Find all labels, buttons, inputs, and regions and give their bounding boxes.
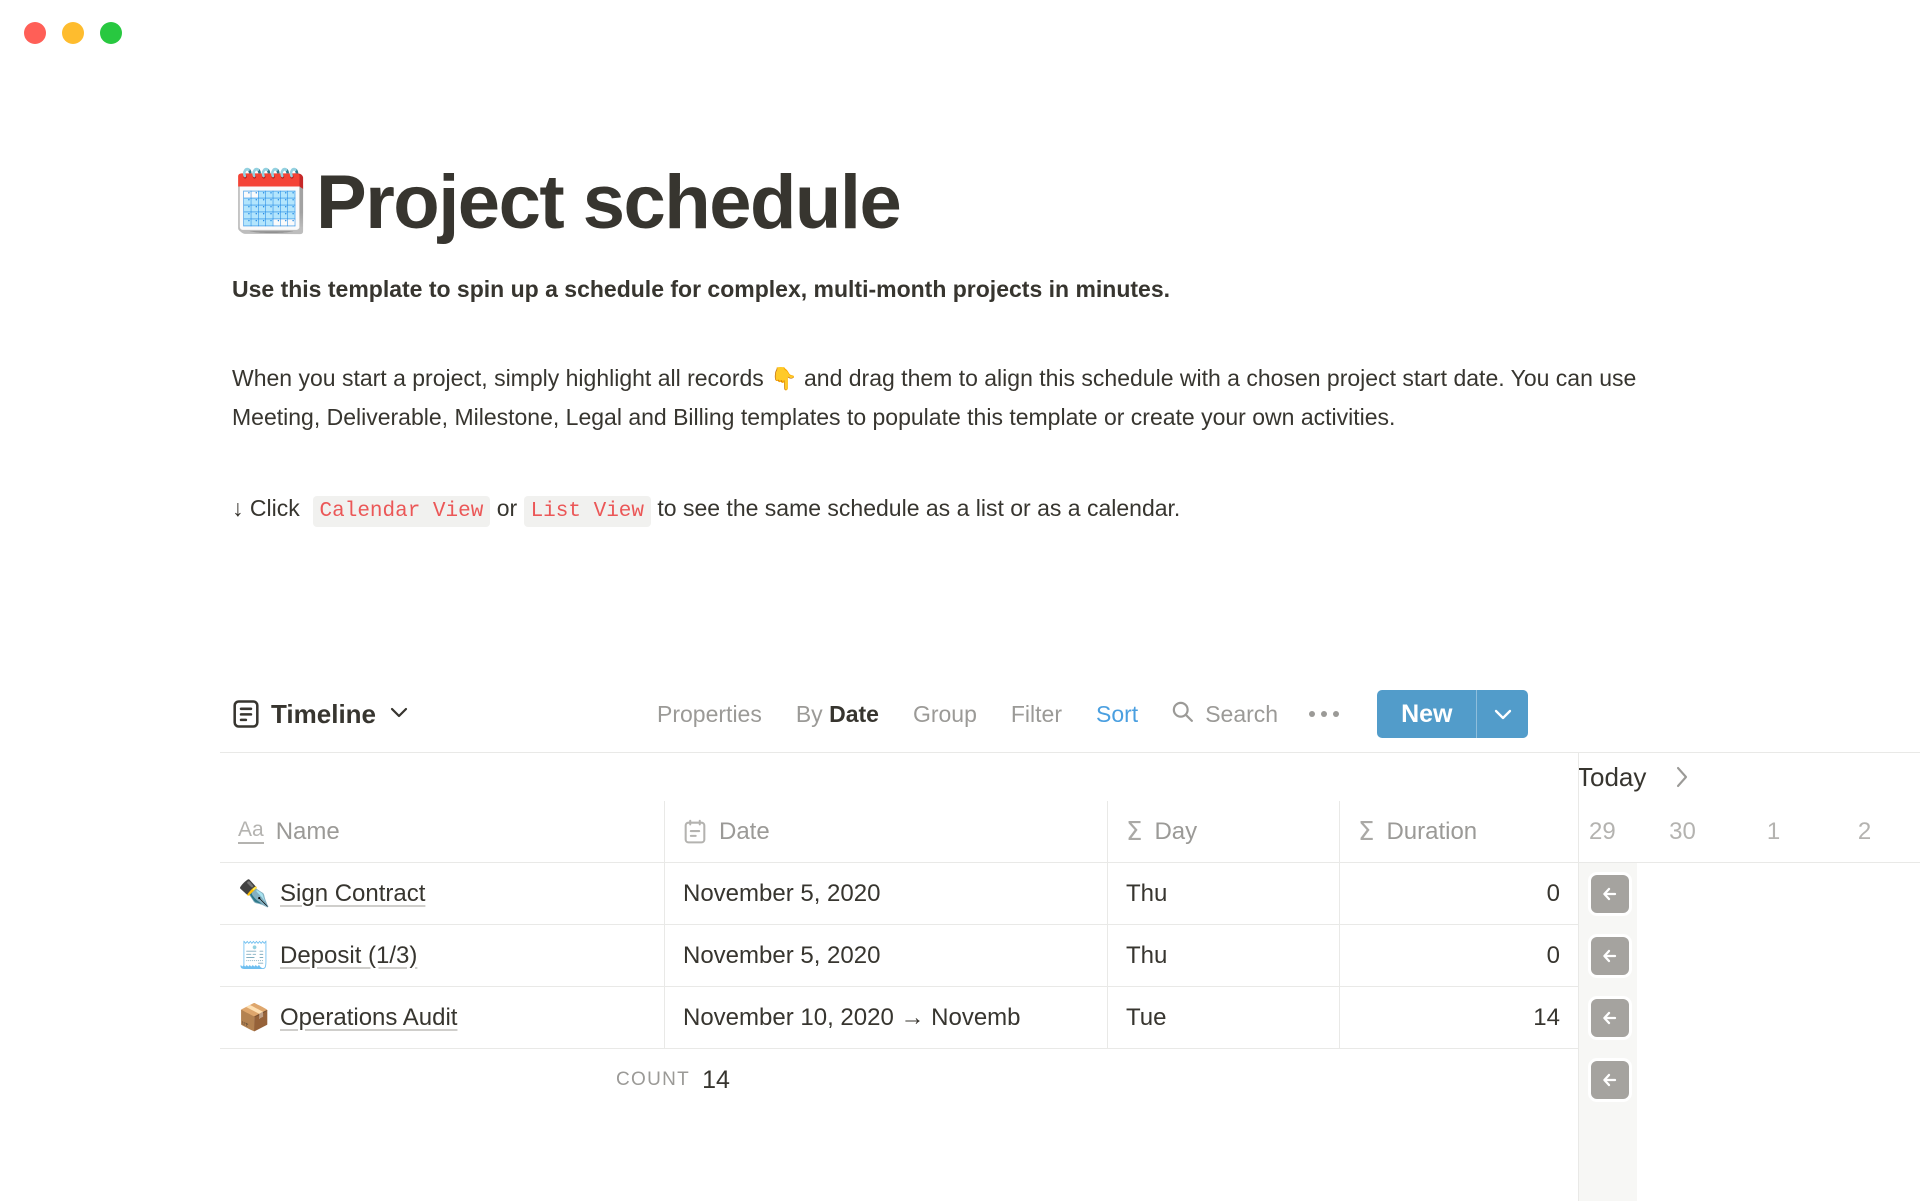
column-header-duration[interactable]: Σ Duration: [1339, 801, 1578, 863]
arrow-left-icon[interactable]: [1591, 937, 1629, 975]
column-header-label: Day: [1154, 818, 1197, 846]
timeline-date-cell[interactable]: 30: [1637, 801, 1728, 862]
page-intro-paragraph: When you start a project, simply highlig…: [232, 359, 1692, 438]
minimize-window-button[interactable]: [62, 22, 84, 44]
table-row[interactable]: 📦 Operations Audit November 10, 2020 → N…: [220, 987, 1578, 1049]
ellipsis-dot: [1321, 711, 1327, 717]
cell-date[interactable]: November 10, 2020 → Novemb: [664, 987, 1107, 1049]
click-word: Click: [250, 495, 300, 521]
calendar-emoji-icon[interactable]: 🗓️: [232, 172, 300, 234]
window-titlebar: [0, 0, 1920, 62]
receipt-emoji-icon: 🧾: [238, 940, 268, 971]
database-view: Aa Name Date: [220, 752, 1920, 1200]
cell-date[interactable]: November 5, 2020: [664, 925, 1107, 987]
page-title-row: 🗓️ Project schedule: [232, 150, 1792, 256]
grid-top-spacer: [220, 753, 1578, 801]
table-row[interactable]: 🧾 Deposit (1/3) November 5, 2020 Thu 0: [220, 925, 1578, 987]
timeline-row: [1579, 1049, 1920, 1111]
timeline-table-pane: Aa Name Date: [220, 753, 1578, 1201]
cell-name[interactable]: 📦 Operations Audit: [220, 987, 664, 1049]
intro-text-part-1: When you start a project, simply highlig…: [232, 365, 770, 391]
cell-day[interactable]: Thu: [1107, 925, 1339, 987]
formula-sigma-icon: Σ: [1358, 817, 1374, 847]
document-content: 🗓️ Project schedule Use this template to…: [232, 150, 1792, 528]
sort-by-value: Date: [829, 701, 879, 727]
timeline-date-header: 29 30 1 2: [1579, 801, 1920, 863]
filter-button[interactable]: Filter: [994, 701, 1079, 728]
traffic-light-group: [24, 22, 122, 44]
toolbar-actions: Properties By Date Group Filter Sort Sea…: [640, 690, 1528, 738]
count-label: Count: [616, 1069, 690, 1091]
cell-day[interactable]: Thu: [1107, 863, 1339, 925]
cell-duration[interactable]: 0: [1339, 925, 1578, 987]
column-header-day[interactable]: Σ Day: [1107, 801, 1339, 863]
close-window-button[interactable]: [24, 22, 46, 44]
cell-day[interactable]: Tue: [1107, 987, 1339, 1049]
click-tail-text: to see the same schedule as a list or as…: [657, 495, 1180, 521]
ellipsis-icon[interactable]: [1293, 711, 1355, 717]
cell-name[interactable]: ✒️ Sign Contract: [220, 863, 664, 925]
list-view-icon: [232, 699, 260, 729]
package-emoji-icon: 📦: [238, 1002, 268, 1033]
down-arrow-icon: ↓: [232, 495, 244, 521]
cell-name[interactable]: 🧾 Deposit (1/3): [220, 925, 664, 987]
database-toolbar: Timeline Properties By Date Group Filter…: [232, 682, 1920, 746]
column-header-label: Name: [276, 818, 340, 846]
column-header-date[interactable]: Date: [664, 801, 1107, 863]
row-title-link[interactable]: Sign Contract: [280, 880, 425, 908]
list-view-code-link[interactable]: List View: [524, 496, 651, 527]
new-dropdown-button[interactable]: [1476, 690, 1528, 738]
sort-button[interactable]: Sort: [1079, 701, 1155, 728]
column-header-name[interactable]: Aa Name: [220, 801, 664, 863]
sort-by-prefix: By: [796, 701, 829, 727]
column-header-label: Duration: [1386, 818, 1477, 846]
timeline-row: [1579, 863, 1920, 925]
search-label: Search: [1205, 701, 1278, 728]
timeline-row: [1579, 925, 1920, 987]
today-button[interactable]: Today: [1578, 762, 1646, 793]
arrow-left-icon[interactable]: [1591, 1061, 1629, 1099]
calendar-icon: [683, 819, 707, 845]
timeline-pane: Today 29 30 1 2: [1578, 753, 1920, 1201]
column-header-label: Date: [719, 818, 770, 846]
chevron-right-icon[interactable]: [1672, 764, 1692, 790]
text-aa-icon: Aa: [238, 819, 264, 843]
table-header-row: Aa Name Date: [220, 801, 1578, 863]
arrow-left-icon[interactable]: [1591, 875, 1629, 913]
calendar-view-code-link[interactable]: Calendar View: [313, 496, 491, 527]
view-selector[interactable]: Timeline: [232, 699, 409, 730]
cell-duration[interactable]: 14: [1339, 987, 1578, 1049]
row-title-link[interactable]: Operations Audit: [280, 1004, 457, 1032]
view-selector-label: Timeline: [271, 699, 376, 730]
cell-date[interactable]: November 5, 2020: [664, 863, 1107, 925]
click-instruction-line: ↓ Click Calendar View or List View to se…: [232, 490, 1792, 529]
search-button[interactable]: Search: [1155, 699, 1293, 729]
sort-by-button[interactable]: By Date: [779, 701, 896, 728]
or-word: or: [497, 495, 517, 521]
timeline-navigation: Today: [1578, 753, 1920, 801]
pen-emoji-icon: ✒️: [238, 878, 268, 909]
timeline-date-cell[interactable]: 29: [1579, 801, 1637, 862]
chevron-down-icon: [389, 705, 409, 724]
ellipsis-dot: [1333, 711, 1339, 717]
timeline-date-cell[interactable]: 2: [1819, 801, 1910, 862]
arrow-left-icon[interactable]: [1591, 999, 1629, 1037]
table-footer-count[interactable]: Count 14: [220, 1049, 1578, 1111]
maximize-window-button[interactable]: [100, 22, 122, 44]
new-button-group: New: [1377, 690, 1528, 738]
app-window: 🗓️ Project schedule Use this template to…: [0, 0, 1920, 1200]
count-value: 14: [702, 1066, 730, 1095]
timeline-row: [1579, 987, 1920, 1049]
page-lede: Use this template to spin up a schedule …: [232, 272, 1792, 307]
timeline-rows: [1579, 863, 1920, 1201]
formula-sigma-icon: Σ: [1126, 817, 1142, 847]
ellipsis-dot: [1309, 711, 1315, 717]
table-row[interactable]: ✒️ Sign Contract November 5, 2020 Thu 0: [220, 863, 1578, 925]
cell-duration[interactable]: 0: [1339, 863, 1578, 925]
point-down-emoji-icon: 👇: [770, 366, 797, 391]
timeline-date-cell[interactable]: 1: [1728, 801, 1819, 862]
page-title: Project schedule: [316, 163, 900, 243]
search-icon: [1170, 699, 1195, 729]
group-button[interactable]: Group: [896, 701, 994, 728]
properties-button[interactable]: Properties: [640, 701, 779, 728]
new-button[interactable]: New: [1377, 690, 1476, 738]
row-title-link[interactable]: Deposit (1/3): [280, 942, 417, 970]
